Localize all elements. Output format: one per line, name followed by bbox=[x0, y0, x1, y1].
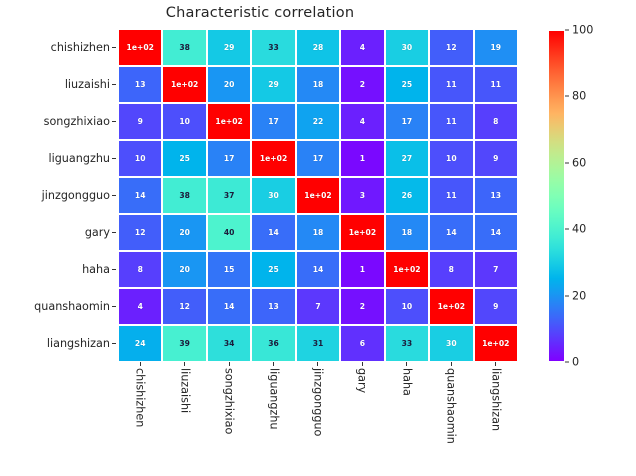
x-axis-label-slot: gary bbox=[340, 368, 384, 472]
colorbar-tick-mark bbox=[565, 362, 569, 363]
heatmap-cell: 30 bbox=[385, 29, 429, 66]
heatmap-cell: 1e+02 bbox=[385, 251, 429, 288]
x-axis-tick-mark bbox=[118, 362, 162, 367]
heatmap-cell-value: 17 bbox=[402, 118, 413, 126]
colorbar-tick-label: 20 bbox=[572, 289, 586, 302]
heatmap-grid: 1e+02382933284301219131e+022029182251111… bbox=[118, 29, 518, 362]
heatmap-cell: 13 bbox=[474, 177, 518, 214]
colorbar-tick-label: 80 bbox=[572, 90, 586, 103]
heatmap-cell-value: 17 bbox=[268, 118, 279, 126]
heatmap-cell: 8 bbox=[429, 251, 473, 288]
y-axis-label: liangshizan bbox=[0, 325, 112, 362]
heatmap-cell: 11 bbox=[429, 66, 473, 103]
x-axis-ticks bbox=[118, 362, 518, 367]
heatmap-cell-value: 27 bbox=[402, 155, 413, 163]
heatmap-cell-value: 15 bbox=[224, 266, 235, 274]
heatmap-cell-value: 14 bbox=[135, 192, 146, 200]
y-axis-label: haha bbox=[0, 251, 112, 288]
heatmap-cell-value: 24 bbox=[135, 340, 146, 348]
heatmap-cell: 17 bbox=[296, 140, 340, 177]
heatmap-cell-value: 10 bbox=[446, 155, 457, 163]
x-axis-label: liuzaishi bbox=[178, 368, 191, 413]
heatmap-cell-value: 25 bbox=[268, 266, 279, 274]
y-axis-label: songzhixiao bbox=[0, 103, 112, 140]
heatmap-cell: 20 bbox=[162, 251, 206, 288]
colorbar-tick-labels: 100806040200 bbox=[565, 30, 625, 362]
heatmap-cell: 11 bbox=[474, 66, 518, 103]
heatmap-cell: 1e+02 bbox=[162, 66, 206, 103]
colorbar-tick-label: 60 bbox=[572, 156, 586, 169]
y-axis-label: chishizhen bbox=[0, 29, 112, 66]
heatmap-cell-value: 14 bbox=[446, 229, 457, 237]
heatmap-cell-value: 29 bbox=[268, 81, 279, 89]
heatmap-cell: 17 bbox=[385, 103, 429, 140]
x-axis-tick-mark bbox=[162, 362, 206, 367]
heatmap-cell: 39 bbox=[162, 325, 206, 362]
heatmap-cell-value: 1e+02 bbox=[127, 44, 154, 52]
x-axis-tick-mark bbox=[207, 362, 251, 367]
x-axis-label-slot: liuzaishi bbox=[162, 368, 206, 472]
x-axis-labels: chishizhenliuzaishisongzhixiaoliguangzhu… bbox=[118, 368, 518, 472]
heatmap-cell: 20 bbox=[162, 214, 206, 251]
heatmap-cell-value: 13 bbox=[268, 303, 279, 311]
heatmap-cell-value: 10 bbox=[402, 303, 413, 311]
heatmap-cell-value: 22 bbox=[313, 118, 324, 126]
heatmap-cell: 11 bbox=[429, 103, 473, 140]
heatmap-cell: 11 bbox=[429, 177, 473, 214]
heatmap-cell-value: 18 bbox=[313, 229, 324, 237]
heatmap-cell-value: 20 bbox=[179, 229, 190, 237]
heatmap-cell-value: 8 bbox=[449, 266, 454, 274]
heatmap-cell-value: 14 bbox=[268, 229, 279, 237]
heatmap-cell-value: 9 bbox=[138, 118, 143, 126]
heatmap-cell: 29 bbox=[207, 29, 251, 66]
heatmap-cell-value: 12 bbox=[179, 303, 190, 311]
colorbar-tick: 0 bbox=[565, 356, 579, 369]
heatmap-cell: 14 bbox=[118, 177, 162, 214]
heatmap-cell-value: 1 bbox=[360, 266, 365, 274]
heatmap-cell-value: 38 bbox=[179, 192, 190, 200]
heatmap-cell: 12 bbox=[118, 214, 162, 251]
x-axis-tick-mark bbox=[340, 362, 384, 367]
heatmap-cell-value: 39 bbox=[179, 340, 190, 348]
heatmap-cell-value: 17 bbox=[224, 155, 235, 163]
heatmap-cell: 36 bbox=[251, 325, 295, 362]
heatmap-cell: 10 bbox=[118, 140, 162, 177]
x-axis-tick-mark bbox=[429, 362, 473, 367]
heatmap-cell-value: 1e+02 bbox=[349, 229, 376, 237]
heatmap-cell: 25 bbox=[251, 251, 295, 288]
heatmap-cell: 33 bbox=[385, 325, 429, 362]
colorbar-tick: 60 bbox=[565, 156, 586, 169]
chart-title: Characteristic correlation bbox=[0, 5, 520, 21]
heatmap-cell: 10 bbox=[385, 288, 429, 325]
x-axis-tick-mark bbox=[385, 362, 429, 367]
heatmap-cell-value: 30 bbox=[268, 192, 279, 200]
x-axis-label: liguangzhu bbox=[267, 368, 280, 430]
heatmap-cell-value: 4 bbox=[138, 303, 143, 311]
heatmap-cell-value: 26 bbox=[402, 192, 413, 200]
heatmap-cell-value: 17 bbox=[313, 155, 324, 163]
y-axis-label: liuzaishi bbox=[0, 66, 112, 103]
heatmap-cell-value: 13 bbox=[490, 192, 501, 200]
heatmap-cell-value: 29 bbox=[224, 44, 235, 52]
x-axis-label-slot: quanshaomin bbox=[429, 368, 473, 472]
heatmap-cell-value: 36 bbox=[268, 340, 279, 348]
colorbar-tick: 100 bbox=[565, 24, 593, 37]
heatmap-cell: 38 bbox=[162, 29, 206, 66]
heatmap-cell-value: 25 bbox=[179, 155, 190, 163]
x-axis-label-slot: liguangzhu bbox=[251, 368, 295, 472]
heatmap-cell-value: 14 bbox=[224, 303, 235, 311]
heatmap-cell: 18 bbox=[296, 214, 340, 251]
heatmap-cell: 22 bbox=[296, 103, 340, 140]
heatmap-cell: 9 bbox=[474, 288, 518, 325]
heatmap-cell: 1e+02 bbox=[340, 214, 384, 251]
heatmap-cell-value: 8 bbox=[138, 266, 143, 274]
heatmap-cell-value: 40 bbox=[224, 229, 235, 237]
heatmap-cell: 17 bbox=[207, 140, 251, 177]
colorbar-tick-label: 40 bbox=[572, 223, 586, 236]
heatmap-cell: 18 bbox=[296, 66, 340, 103]
heatmap-cell: 24 bbox=[118, 325, 162, 362]
colorbar-tick-label: 100 bbox=[572, 24, 593, 37]
heatmap-cell: 25 bbox=[385, 66, 429, 103]
heatmap-cell: 4 bbox=[118, 288, 162, 325]
heatmap-cell-value: 20 bbox=[224, 81, 235, 89]
heatmap-cell-value: 6 bbox=[360, 340, 365, 348]
heatmap-cell: 1e+02 bbox=[296, 177, 340, 214]
heatmap-cell: 18 bbox=[385, 214, 429, 251]
heatmap-cell: 2 bbox=[340, 288, 384, 325]
heatmap-cell-value: 28 bbox=[313, 44, 324, 52]
heatmap-cell-value: 33 bbox=[268, 44, 279, 52]
heatmap-cell: 30 bbox=[429, 325, 473, 362]
heatmap-cell: 13 bbox=[251, 288, 295, 325]
x-axis-label: chishizhen bbox=[134, 368, 147, 427]
heatmap-cell: 12 bbox=[162, 288, 206, 325]
heatmap-cell-value: 11 bbox=[446, 192, 457, 200]
heatmap-figure: Characteristic correlation chishizhenliu… bbox=[0, 0, 636, 476]
heatmap-cell-value: 7 bbox=[493, 266, 498, 274]
heatmap-cell: 14 bbox=[251, 214, 295, 251]
heatmap-cell-value: 18 bbox=[402, 229, 413, 237]
heatmap-cell: 15 bbox=[207, 251, 251, 288]
heatmap-cell: 19 bbox=[474, 29, 518, 66]
heatmap-cell: 37 bbox=[207, 177, 251, 214]
heatmap-cell: 1 bbox=[340, 251, 384, 288]
heatmap-cell: 2 bbox=[340, 66, 384, 103]
heatmap-cell-value: 10 bbox=[179, 118, 190, 126]
y-axis-label: gary bbox=[0, 214, 112, 251]
heatmap-cell: 10 bbox=[429, 140, 473, 177]
heatmap-cell: 26 bbox=[385, 177, 429, 214]
heatmap-cell-value: 38 bbox=[179, 44, 190, 52]
x-axis-label-slot: chishizhen bbox=[118, 368, 162, 472]
heatmap-cell-value: 12 bbox=[446, 44, 457, 52]
heatmap-cell: 1e+02 bbox=[118, 29, 162, 66]
heatmap-cell: 6 bbox=[340, 325, 384, 362]
x-axis-label-slot: songzhixiao bbox=[207, 368, 251, 472]
heatmap-cell-value: 13 bbox=[135, 81, 146, 89]
heatmap-cell-value: 14 bbox=[313, 266, 324, 274]
heatmap-cell: 13 bbox=[118, 66, 162, 103]
colorbar-tick-mark bbox=[565, 162, 569, 163]
heatmap-cell-value: 1 bbox=[360, 155, 365, 163]
colorbar-tick: 20 bbox=[565, 289, 586, 302]
heatmap-cell-value: 14 bbox=[490, 229, 501, 237]
heatmap-cell-value: 9 bbox=[493, 155, 498, 163]
x-axis-label: liangshizan bbox=[489, 368, 502, 431]
heatmap-cell-value: 1e+02 bbox=[393, 266, 420, 274]
heatmap-cell: 1 bbox=[340, 140, 384, 177]
x-axis-tick-mark bbox=[474, 362, 518, 367]
heatmap-cell: 4 bbox=[340, 103, 384, 140]
heatmap-cell-value: 1e+02 bbox=[215, 118, 242, 126]
colorbar-tick-label: 0 bbox=[572, 356, 579, 369]
heatmap-cell-value: 4 bbox=[360, 118, 365, 126]
heatmap-cell-value: 3 bbox=[360, 192, 365, 200]
heatmap-cell: 38 bbox=[162, 177, 206, 214]
colorbar-tick-mark bbox=[565, 229, 569, 230]
x-axis-label: gary bbox=[356, 368, 369, 393]
heatmap-cell-value: 25 bbox=[402, 81, 413, 89]
colorbar-tick-mark bbox=[565, 96, 569, 97]
heatmap-cell-value: 1e+02 bbox=[304, 192, 331, 200]
heatmap-cell: 25 bbox=[162, 140, 206, 177]
heatmap-cell-value: 34 bbox=[224, 340, 235, 348]
heatmap-cell: 14 bbox=[296, 251, 340, 288]
heatmap-cell: 14 bbox=[429, 214, 473, 251]
heatmap-cell-value: 10 bbox=[135, 155, 146, 163]
heatmap-cell: 31 bbox=[296, 325, 340, 362]
heatmap-cell: 4 bbox=[340, 29, 384, 66]
heatmap-cell: 12 bbox=[429, 29, 473, 66]
heatmap-cell: 7 bbox=[296, 288, 340, 325]
heatmap-cell: 9 bbox=[474, 140, 518, 177]
colorbar-tick-mark bbox=[565, 30, 569, 31]
colorbar-tick: 80 bbox=[565, 90, 586, 103]
x-axis-label: songzhixiao bbox=[223, 368, 236, 434]
heatmap-cell: 1e+02 bbox=[251, 140, 295, 177]
y-axis-label: quanshaomin bbox=[0, 288, 112, 325]
x-axis-label: jinzgongguo bbox=[311, 368, 324, 436]
heatmap-cell-value: 30 bbox=[402, 44, 413, 52]
heatmap-cell: 8 bbox=[118, 251, 162, 288]
x-axis-tick-mark bbox=[251, 362, 295, 367]
x-axis-label-slot: jinzgongguo bbox=[296, 368, 340, 472]
heatmap-cell-value: 2 bbox=[360, 81, 365, 89]
x-axis-label-slot: haha bbox=[385, 368, 429, 472]
heatmap-cell-value: 4 bbox=[360, 44, 365, 52]
heatmap-cell-value: 1e+02 bbox=[171, 81, 198, 89]
heatmap-cell: 20 bbox=[207, 66, 251, 103]
heatmap-cell: 8 bbox=[474, 103, 518, 140]
heatmap-cell-value: 33 bbox=[402, 340, 413, 348]
colorbar-tick-mark bbox=[565, 295, 569, 296]
heatmap-cell-value: 18 bbox=[313, 81, 324, 89]
x-axis-label: quanshaomin bbox=[445, 368, 458, 444]
heatmap-cell-value: 31 bbox=[313, 340, 324, 348]
heatmap-cell-value: 1e+02 bbox=[260, 155, 287, 163]
heatmap-cell: 17 bbox=[251, 103, 295, 140]
heatmap-cell: 10 bbox=[162, 103, 206, 140]
y-axis-labels: chishizhenliuzaishisongzhixiaoliguangzhu… bbox=[0, 29, 112, 362]
x-axis-label: haha bbox=[400, 368, 413, 396]
x-axis-label-slot: liangshizan bbox=[474, 368, 518, 472]
heatmap-cell-value: 11 bbox=[490, 81, 501, 89]
heatmap-cell-value: 11 bbox=[446, 118, 457, 126]
heatmap-cell-value: 11 bbox=[446, 81, 457, 89]
heatmap-cell: 7 bbox=[474, 251, 518, 288]
heatmap-cell: 29 bbox=[251, 66, 295, 103]
heatmap-cell: 33 bbox=[251, 29, 295, 66]
heatmap-cell: 3 bbox=[340, 177, 384, 214]
heatmap-cell-value: 19 bbox=[490, 44, 501, 52]
heatmap-cell: 28 bbox=[296, 29, 340, 66]
heatmap-cell: 14 bbox=[474, 214, 518, 251]
heatmap-cell-value: 37 bbox=[224, 192, 235, 200]
heatmap-cell-value: 9 bbox=[493, 303, 498, 311]
y-axis-label: liguangzhu bbox=[0, 140, 112, 177]
heatmap-cell-value: 2 bbox=[360, 303, 365, 311]
heatmap-cell: 1e+02 bbox=[429, 288, 473, 325]
heatmap-cell: 27 bbox=[385, 140, 429, 177]
heatmap-cell: 34 bbox=[207, 325, 251, 362]
heatmap-cell-value: 1e+02 bbox=[438, 303, 465, 311]
colorbar-tick: 40 bbox=[565, 223, 586, 236]
heatmap-cell: 1e+02 bbox=[474, 325, 518, 362]
heatmap-cell: 14 bbox=[207, 288, 251, 325]
heatmap-cell-value: 20 bbox=[179, 266, 190, 274]
heatmap-cell-value: 30 bbox=[446, 340, 457, 348]
colorbar bbox=[548, 30, 565, 362]
heatmap-cell: 30 bbox=[251, 177, 295, 214]
heatmap-cell: 40 bbox=[207, 214, 251, 251]
heatmap-plot-area: 1e+02382933284301219131e+022029182251111… bbox=[118, 29, 518, 362]
x-axis-tick-mark bbox=[296, 362, 340, 367]
heatmap-cell: 9 bbox=[118, 103, 162, 140]
y-axis-label: jinzgongguo bbox=[0, 177, 112, 214]
heatmap-cell-value: 7 bbox=[315, 303, 320, 311]
heatmap-cell-value: 12 bbox=[135, 229, 146, 237]
heatmap-cell-value: 8 bbox=[493, 118, 498, 126]
heatmap-cell-value: 1e+02 bbox=[482, 340, 509, 348]
heatmap-cell: 1e+02 bbox=[207, 103, 251, 140]
